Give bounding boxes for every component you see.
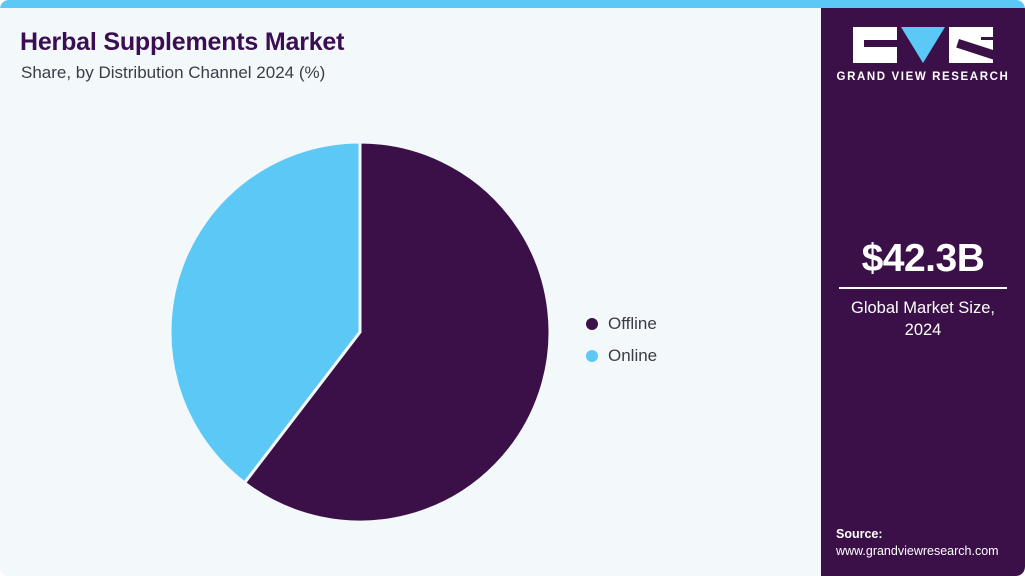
pie-chart-svg xyxy=(168,140,552,524)
legend-label-online: Online xyxy=(608,346,657,366)
source-label: Source: xyxy=(836,526,1025,543)
legend-swatch-offline xyxy=(586,318,598,330)
pie-slice-group xyxy=(170,142,550,522)
top-accent-bar xyxy=(0,0,1025,8)
logo-wordmark: GRAND VIEW RESEARCH xyxy=(821,71,1025,83)
logo-triangle-v-icon xyxy=(901,27,945,63)
stat-divider xyxy=(839,287,1007,289)
market-size-stat: $42.3B Global Market Size, 2024 xyxy=(821,238,1025,341)
logo-letter-g-icon xyxy=(853,27,897,63)
logo-marks xyxy=(821,27,1025,63)
chart-legend: Offline Online xyxy=(586,308,786,372)
source-block: Source: www.grandviewresearch.com xyxy=(836,526,1025,560)
pie-chart xyxy=(168,140,552,524)
legend-label-offline: Offline xyxy=(608,314,657,334)
source-url[interactable]: www.grandviewresearch.com xyxy=(836,543,1025,560)
page-subtitle: Share, by Distribution Channel 2024 (%) xyxy=(21,63,325,83)
legend-item-online[interactable]: Online xyxy=(586,340,786,372)
infographic-card: Herbal Supplements Market Share, by Dist… xyxy=(0,0,1025,576)
brand-logo: GRAND VIEW RESEARCH xyxy=(821,27,1025,83)
chart-panel: Herbal Supplements Market Share, by Dist… xyxy=(0,8,821,576)
page-title: Herbal Supplements Market xyxy=(20,28,344,57)
legend-item-offline[interactable]: Offline xyxy=(586,308,786,340)
legend-swatch-online xyxy=(586,350,598,362)
market-size-caption: Global Market Size, 2024 xyxy=(821,297,1025,341)
market-size-value: $42.3B xyxy=(821,238,1025,280)
logo-letter-r-icon xyxy=(949,27,993,63)
brand-sidebar: GRAND VIEW RESEARCH $42.3B Global Market… xyxy=(821,8,1025,576)
